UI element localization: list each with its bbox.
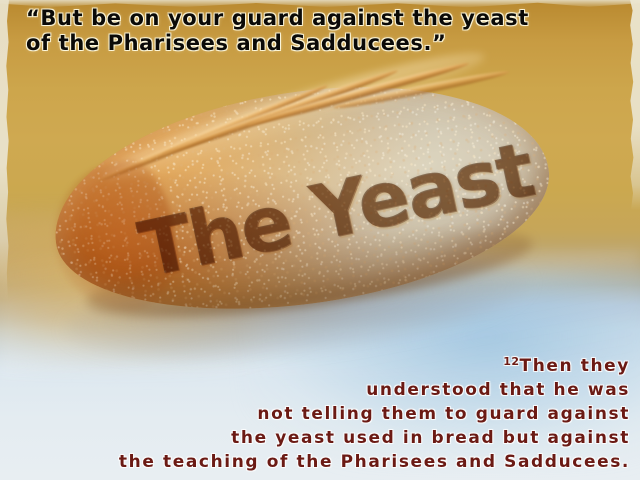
bottom-verse-line-2: understood that he was xyxy=(10,378,630,402)
top-quote-line-1: “But be on your guard against the yeast xyxy=(26,6,616,31)
bottom-verse-line-4: the yeast used in bread but against xyxy=(10,426,630,450)
bottom-verse-text: 12Then they understood that he was not t… xyxy=(10,350,630,474)
bottom-verse-line-5: the teaching of the Pharisees and Sadduc… xyxy=(10,450,630,474)
bread-loaf: The Yeast xyxy=(44,62,558,360)
top-quote-line-2: of the Pharisees and Sadducees.” xyxy=(26,31,616,56)
verse-number: 12 xyxy=(503,355,519,368)
bottom-verse-line-1: 12Then they xyxy=(10,350,630,378)
scripture-image-canvas: The Yeast “But be on your guard against … xyxy=(0,0,640,480)
bottom-verse-line-1-text: Then they xyxy=(520,356,631,376)
bottom-verse-line-3: not telling them to guard against xyxy=(10,402,630,426)
top-quote-text: “But be on your guard against the yeast … xyxy=(26,6,616,56)
